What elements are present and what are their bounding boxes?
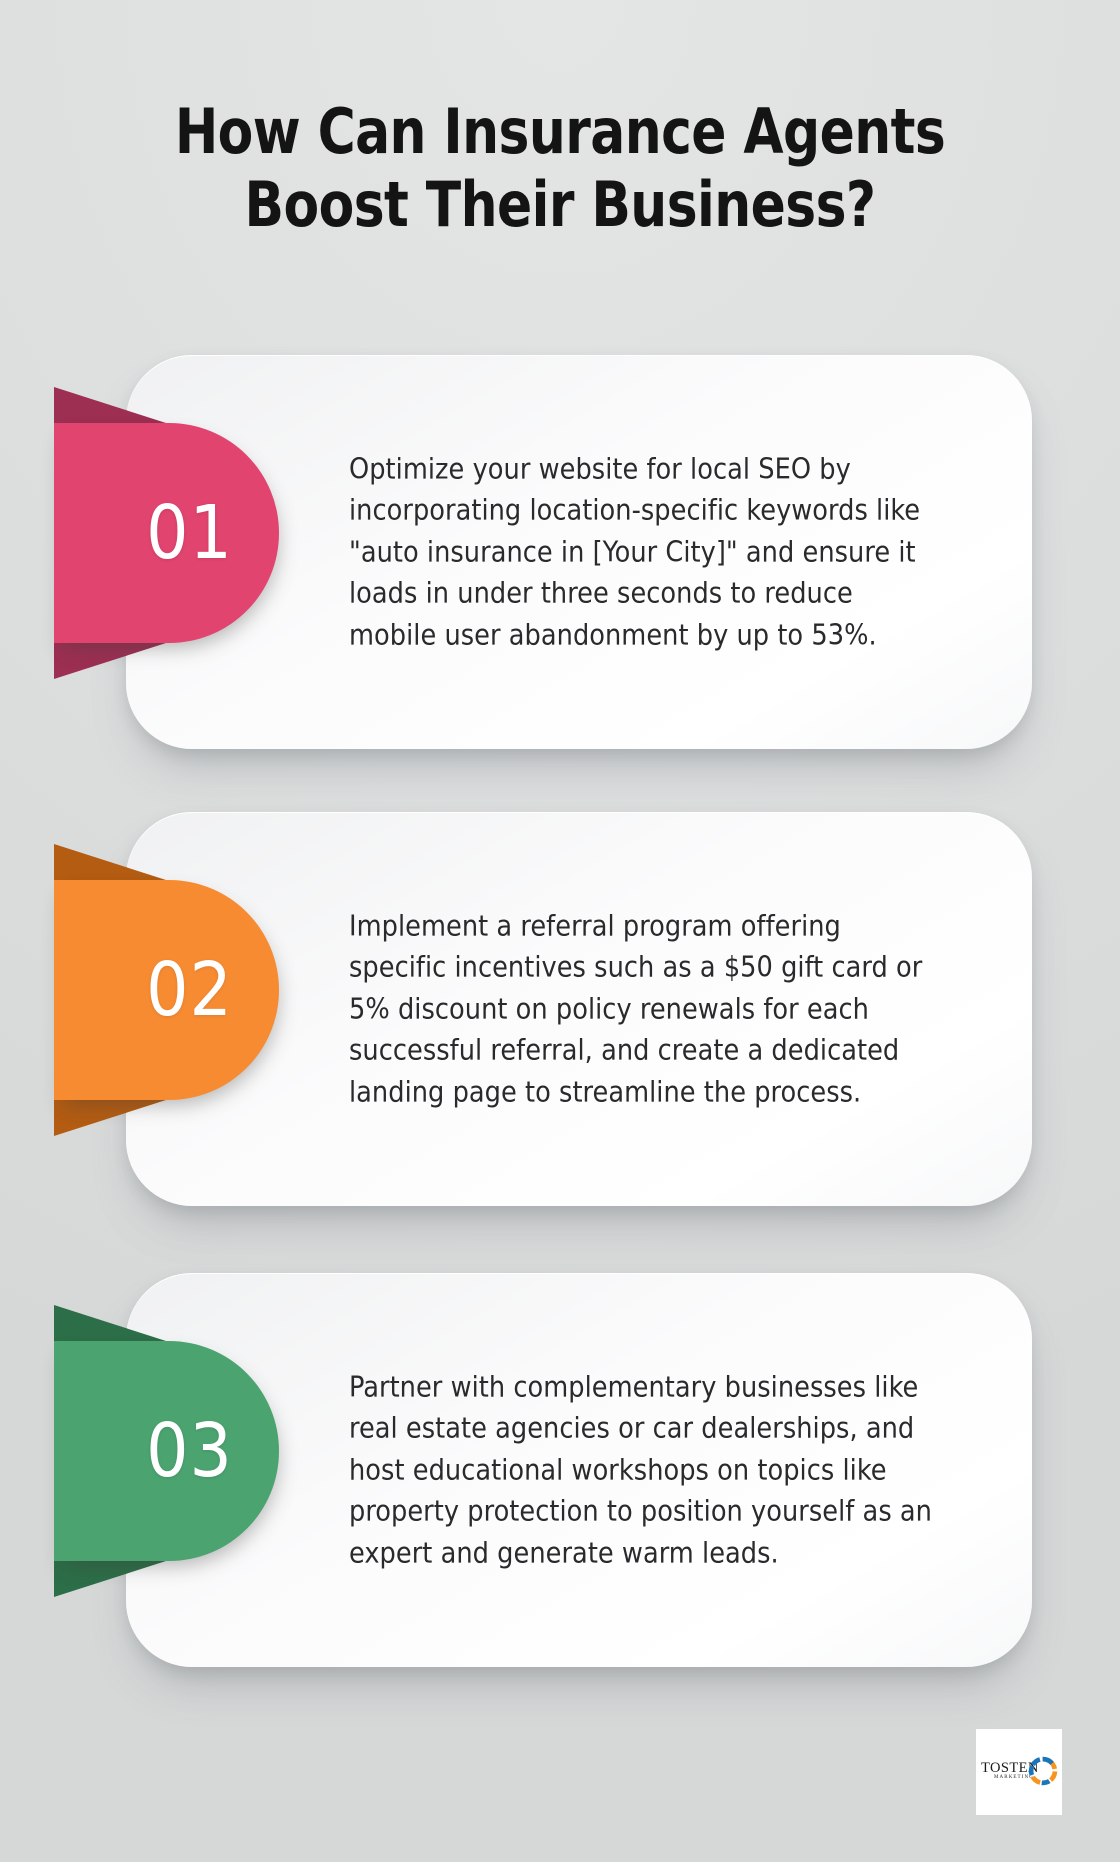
ribbon-fold-bottom-3: [54, 1561, 166, 1597]
logo-inner: TOSTEN MARKETING: [981, 1754, 1057, 1790]
page-title-line-2: Boost Their Business?: [123, 169, 997, 242]
ribbon-fold-top-1: [54, 387, 166, 423]
number-ribbon-1: 01: [54, 423, 279, 643]
brand-logo: TOSTEN MARKETING: [976, 1729, 1062, 1815]
number-ribbon-3: 03: [54, 1341, 279, 1561]
infographic-poster: How Can Insurance Agents Boost Their Bus…: [0, 0, 1120, 1862]
card-text-2: Implement a referral program offering sp…: [349, 905, 946, 1112]
ribbon-fold-top-2: [54, 844, 166, 880]
page-title-line-1: How Can Insurance Agents: [123, 96, 997, 169]
card-text-3: Partner with complementary businesses li…: [349, 1366, 946, 1573]
ribbon-fold-bottom-1: [54, 643, 166, 679]
card-number-3: 03: [54, 1341, 279, 1561]
card-text-1: Optimize your website for local SEO by i…: [349, 448, 946, 655]
card-number-1: 01: [54, 423, 279, 643]
gear-circle-icon: [1025, 1753, 1061, 1789]
page-title: How Can Insurance Agents Boost Their Bus…: [0, 96, 1120, 241]
number-ribbon-2: 02: [54, 880, 279, 1100]
card-number-2: 02: [54, 880, 279, 1100]
tip-card-1: 01 Optimize your website for local SEO b…: [126, 355, 1032, 749]
ribbon-fold-bottom-2: [54, 1100, 166, 1136]
tip-card-3: 03 Partner with complementary businesses…: [126, 1273, 1032, 1667]
ribbon-fold-top-3: [54, 1305, 166, 1341]
tip-card-2: 02 Implement a referral program offering…: [126, 812, 1032, 1206]
